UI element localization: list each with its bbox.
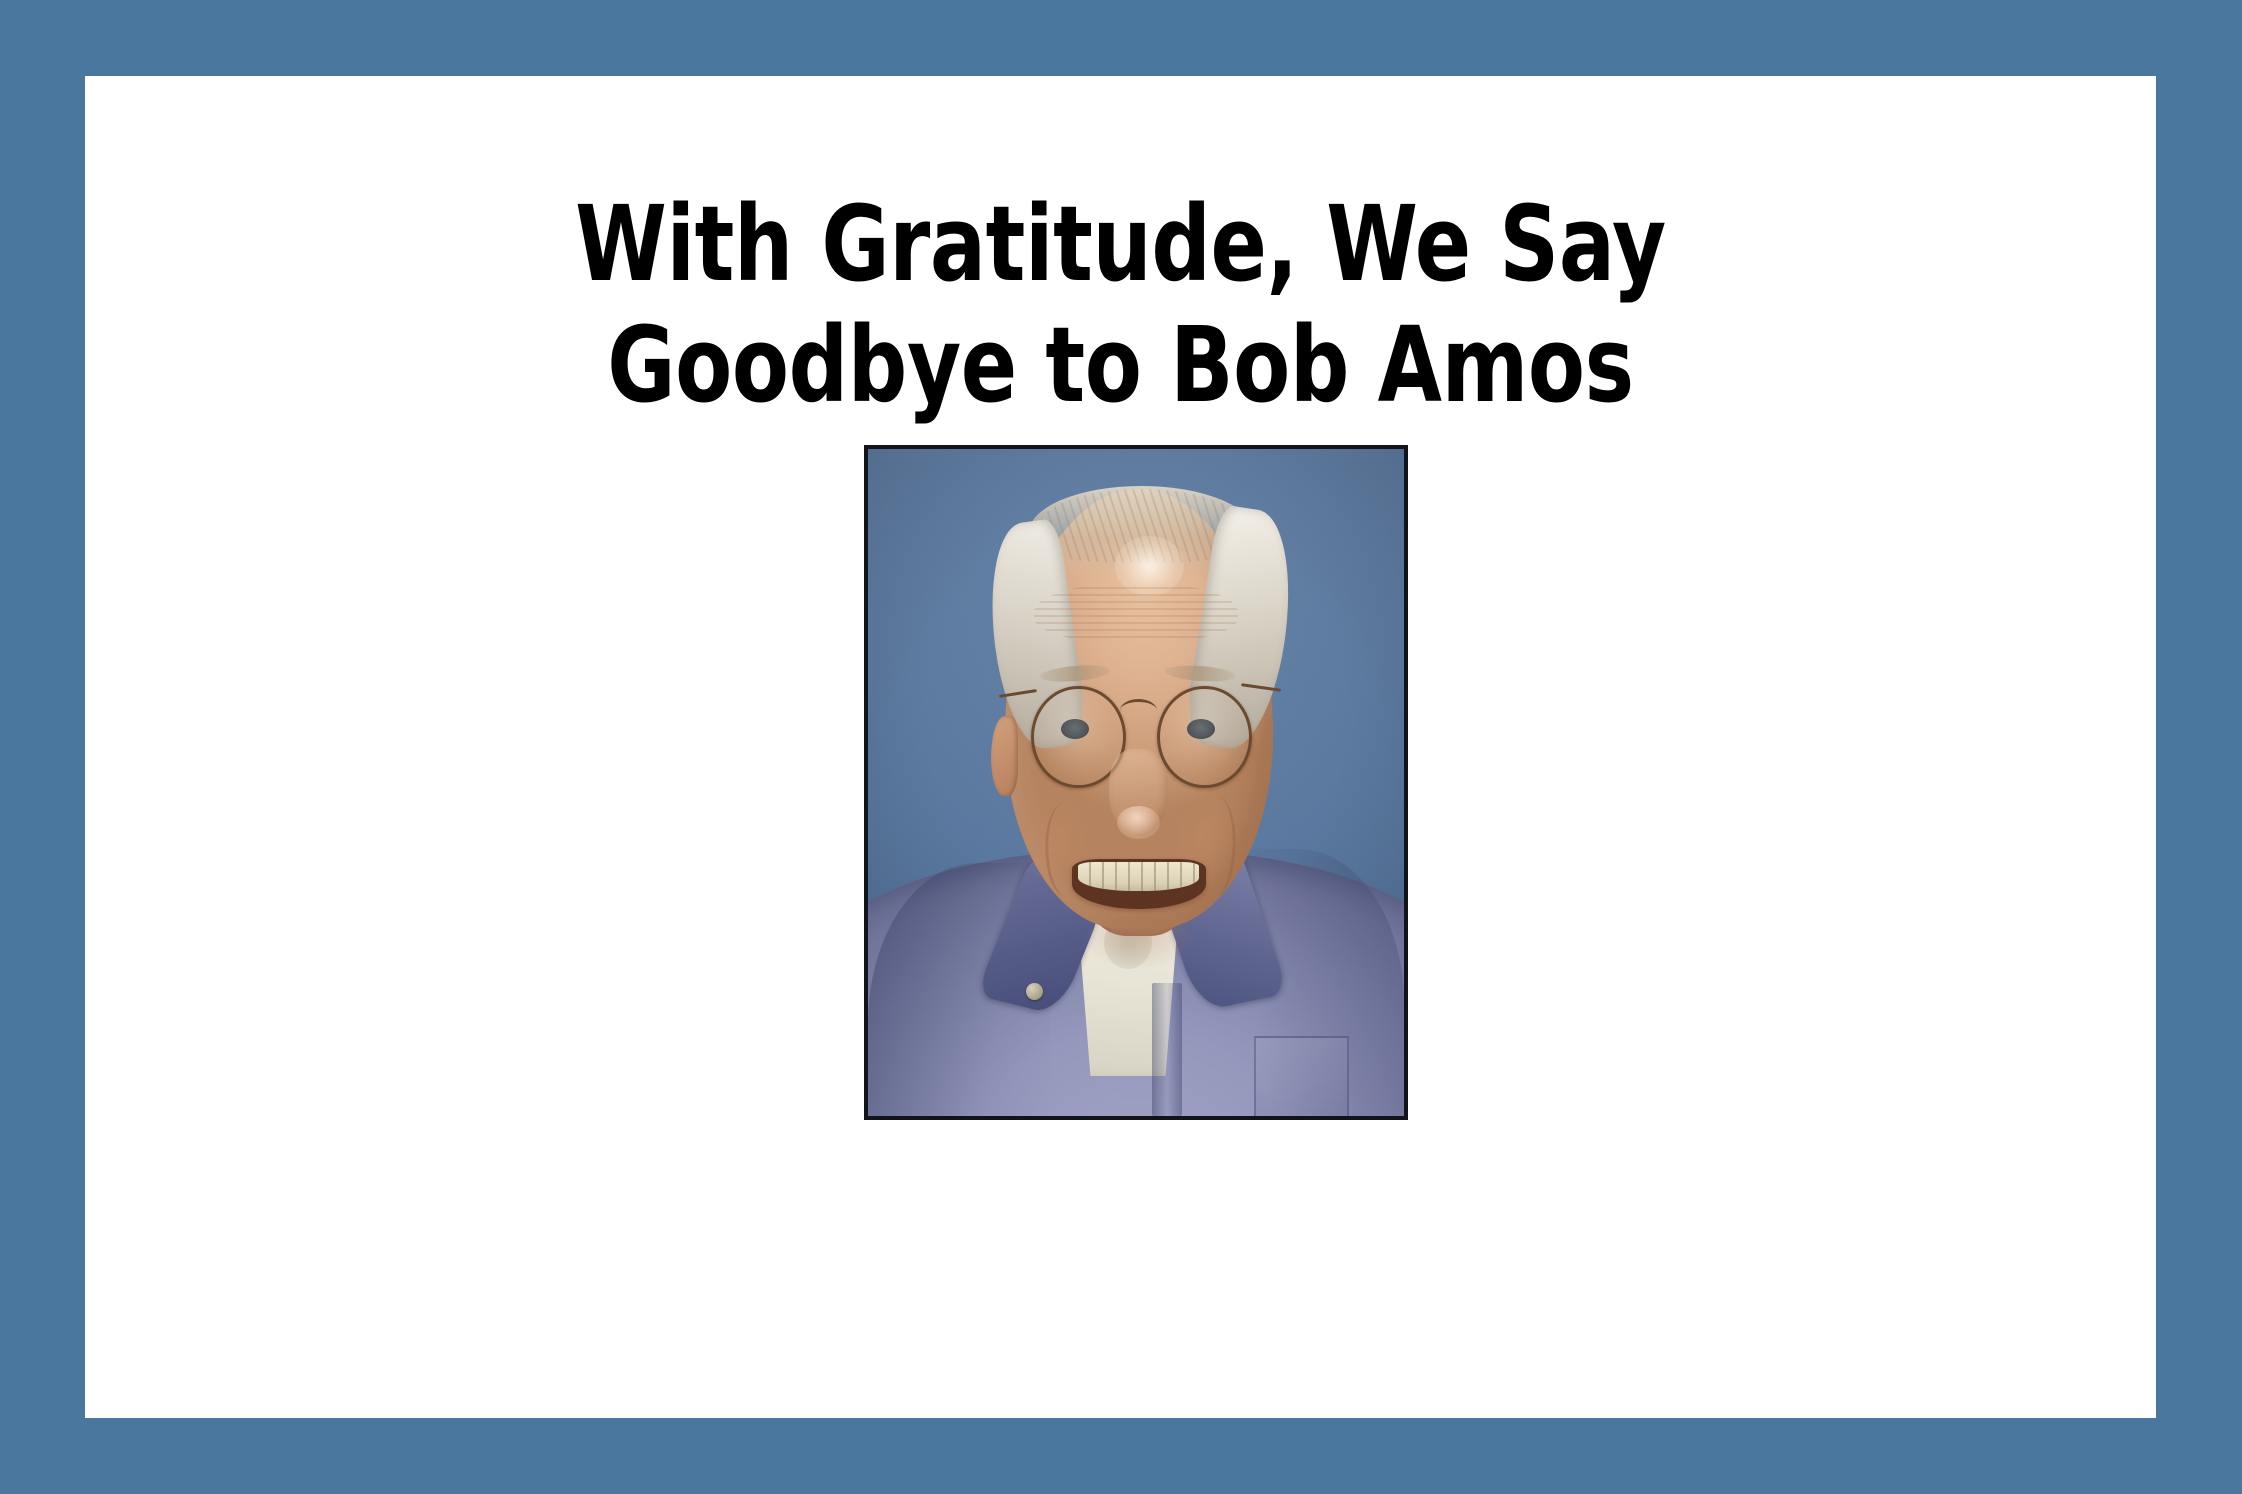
eyeglasses-bridge <box>1120 699 1158 722</box>
mouth <box>1072 859 1206 909</box>
page-title: With Gratitude, We Say Goodbye to Bob Am… <box>292 184 1949 425</box>
portrait-photo <box>864 445 1408 1120</box>
portrait-photo-image <box>868 449 1404 1116</box>
shirt-chest-pocket <box>1254 1036 1349 1116</box>
shirt-button <box>1026 983 1043 1000</box>
shirt-placket <box>1152 983 1181 1116</box>
ear <box>991 716 1018 796</box>
slide-frame: With Gratitude, We Say Goodbye to Bob Am… <box>0 0 2242 1494</box>
forehead-wrinkles <box>1034 582 1238 642</box>
slide-canvas: With Gratitude, We Say Goodbye to Bob Am… <box>85 76 2156 1418</box>
eyeglasses-lens-right <box>1157 686 1251 789</box>
nose-tip-highlight <box>1117 806 1160 839</box>
chin-shadow <box>1082 916 1195 969</box>
teeth-separations <box>1078 862 1199 891</box>
